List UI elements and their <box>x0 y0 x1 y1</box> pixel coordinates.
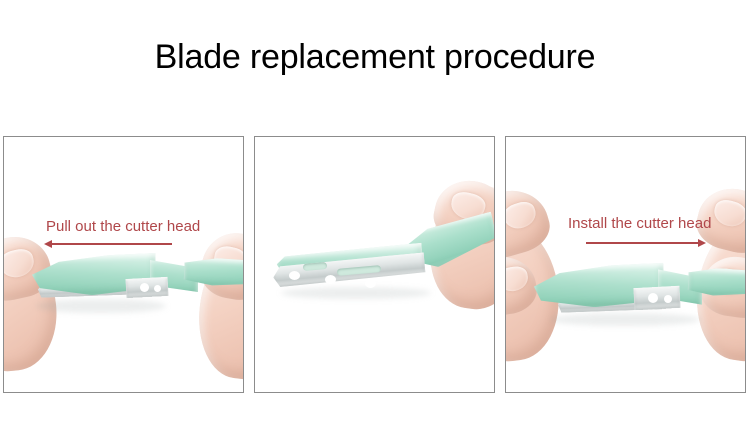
panel-1-blade-notch <box>140 283 149 292</box>
panel-3-caption: Install the cutter head <box>568 214 711 233</box>
panel-2-blade-notch-2 <box>325 275 336 284</box>
panel-1-drop-shadow <box>36 299 166 313</box>
panel-1-arrow-left-icon <box>44 238 172 249</box>
page-title: Blade replacement procedure <box>0 36 750 78</box>
panel-1-blade-notch-2 <box>154 285 161 292</box>
panel-2-drop-shadow <box>281 287 431 299</box>
panel-3-arrow-right-icon <box>586 237 706 248</box>
arrow-shaft <box>50 243 172 245</box>
panel-3-photo <box>506 137 745 392</box>
arrow-shaft <box>586 242 700 244</box>
panel-row: Pull out the cutter head <box>3 136 746 395</box>
step-panel-2 <box>254 136 495 393</box>
arrow-head <box>698 239 706 247</box>
panel-1-caption: Pull out the cutter head <box>46 217 200 236</box>
panel-3-blade-notch-1 <box>648 293 658 303</box>
panel-1-photo <box>4 137 243 392</box>
panel-2-photo <box>255 137 494 392</box>
panel-3-blade-notch-2 <box>664 295 672 303</box>
panel-2-blade-notch-1 <box>289 271 300 280</box>
panel-2-blade-notch-3 <box>365 279 376 288</box>
step-panel-1: Pull out the cutter head <box>3 136 244 393</box>
panel-3-drop-shadow <box>550 313 700 326</box>
step-panel-3: Install the cutter head <box>505 136 746 393</box>
